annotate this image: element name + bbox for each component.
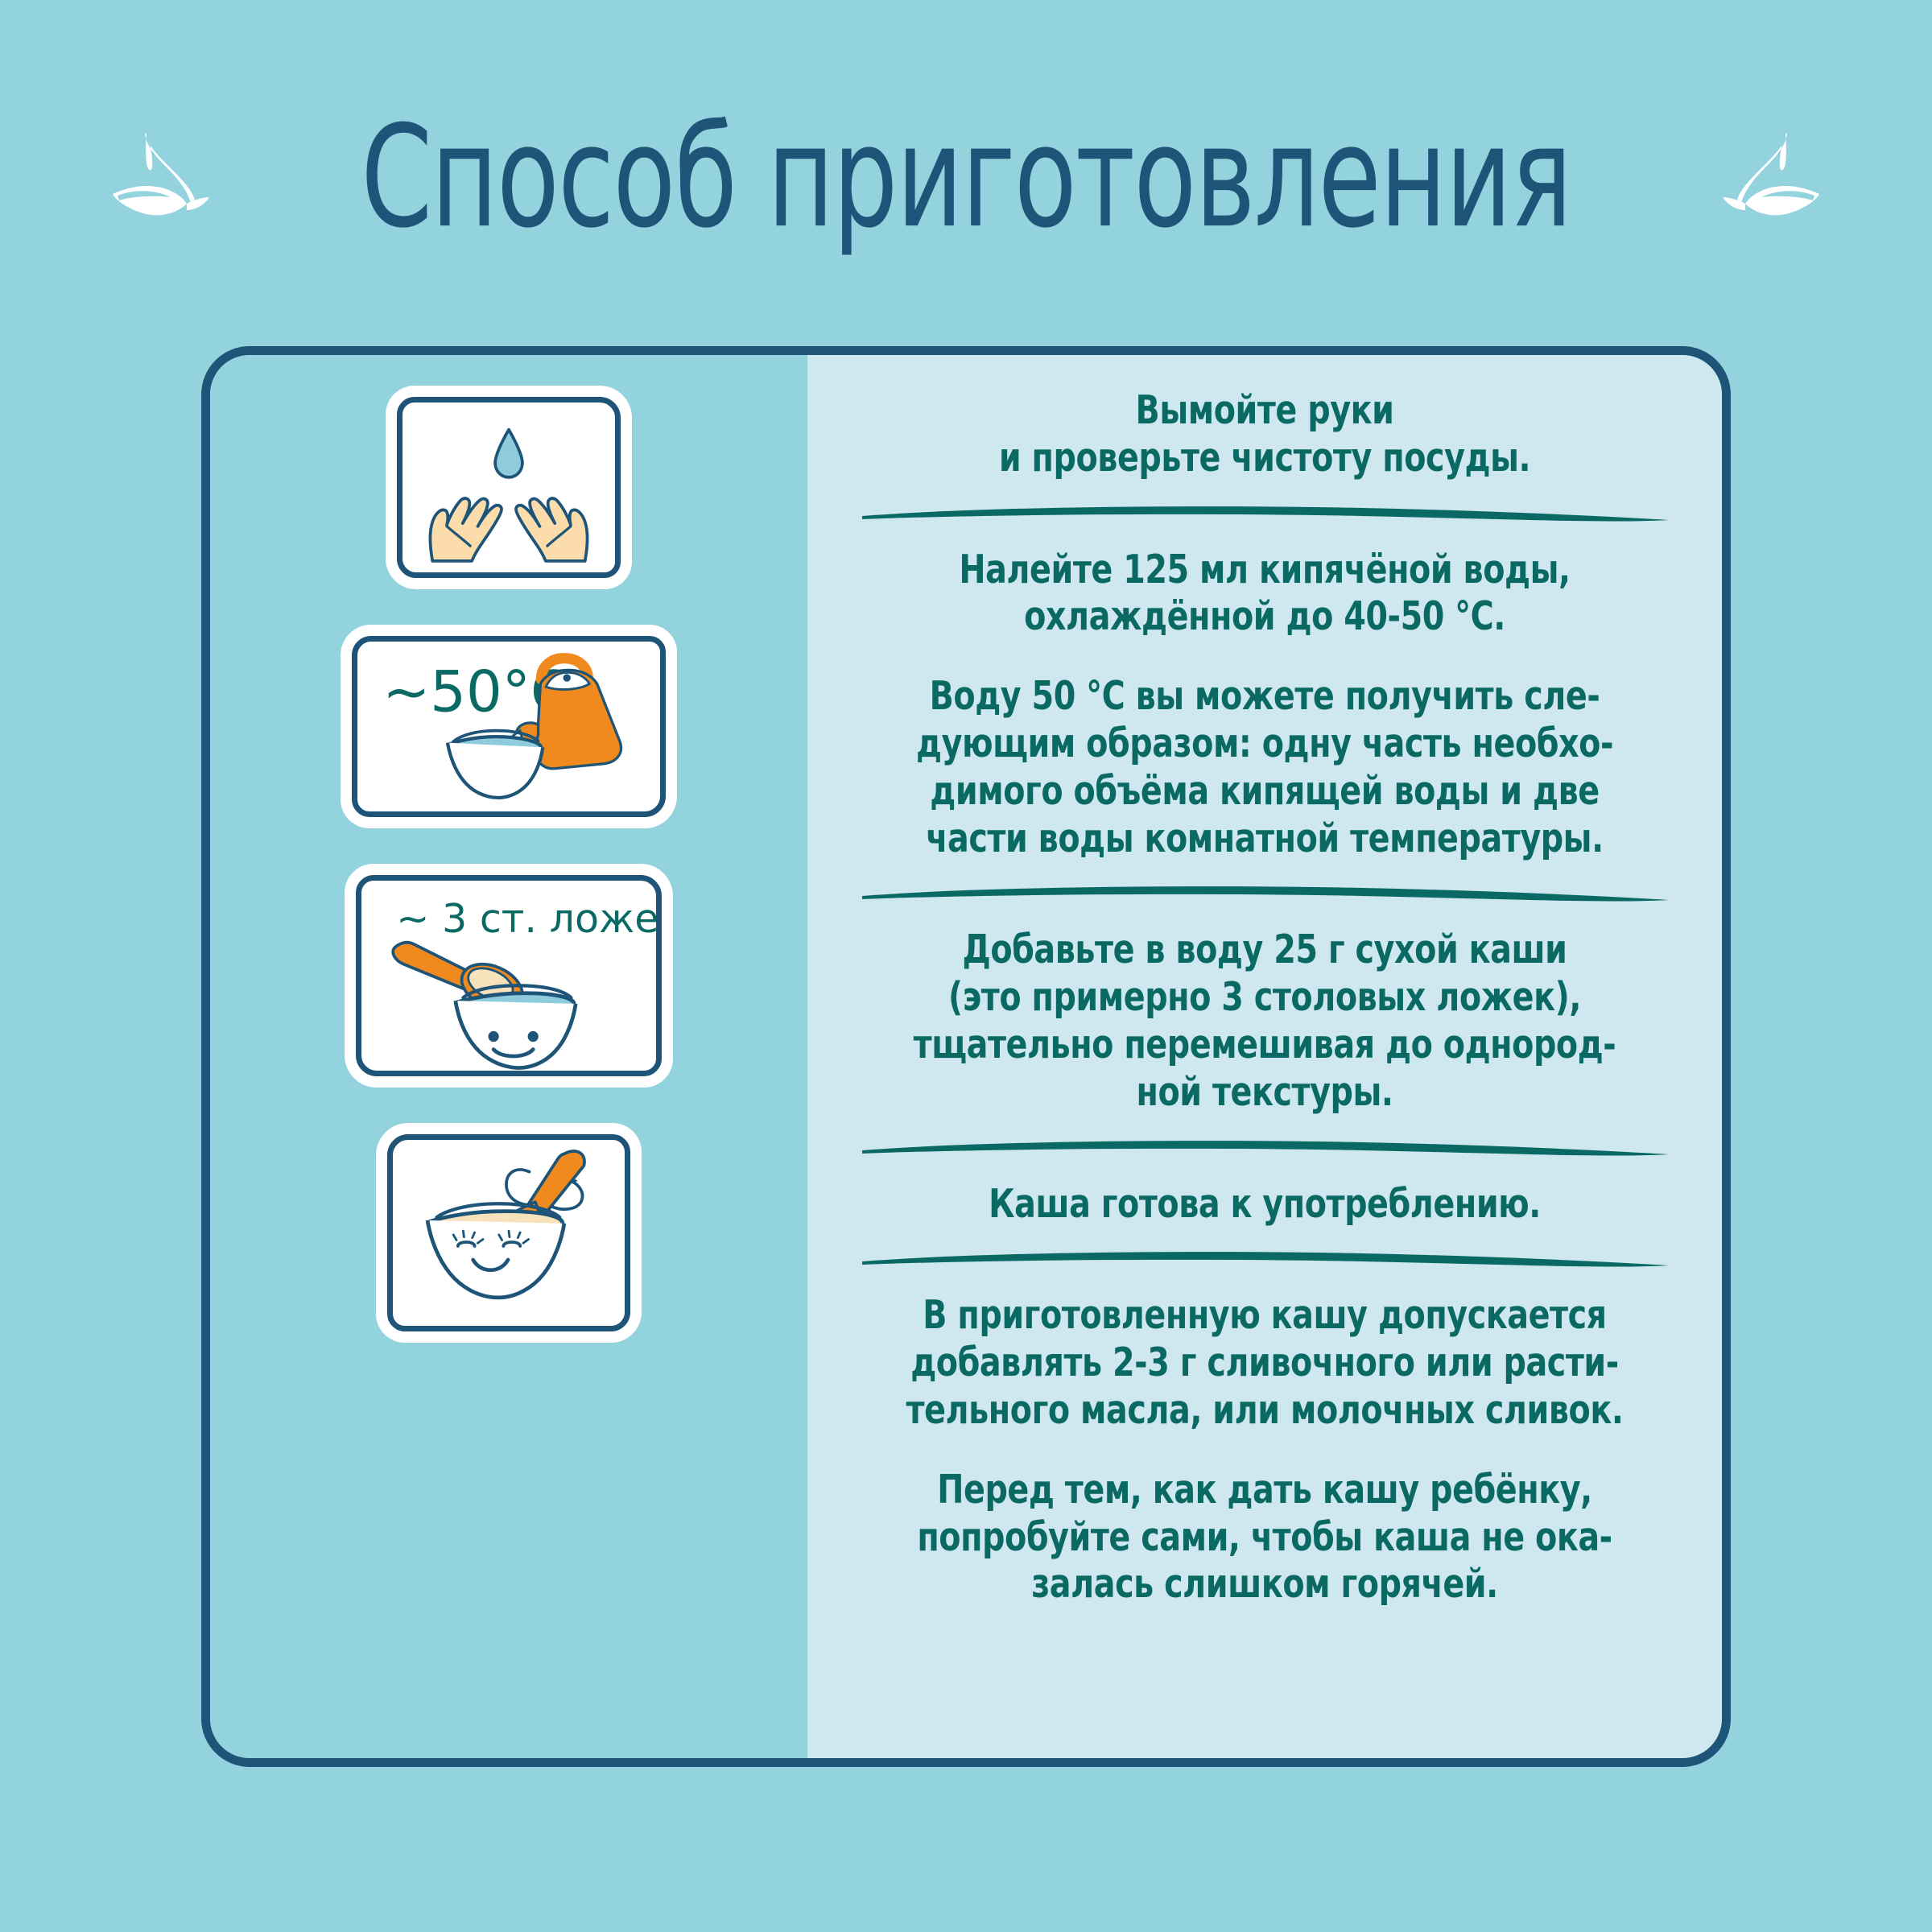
preparation-card: ~50°C ~ 3 [201, 346, 1731, 1767]
instruction-step-5: В приготовленную кашу допускается добавл… [898, 1292, 1632, 1434]
leaf-flourish-icon [1702, 117, 1823, 237]
hands-icon [430, 498, 587, 561]
instruction-step-2-note: Воду 50 °C вы можете получить сле- дующи… [898, 673, 1632, 862]
separator-rule [857, 1247, 1672, 1271]
separator-rule [857, 502, 1672, 526]
stirring-porridge-illustration [387, 1134, 630, 1331]
washing-hands-illustration [397, 397, 621, 578]
smiling-bowl-icon [456, 985, 576, 1067]
instruction-step-6: Перед тем, как дать кашу ребёнку, попроб… [898, 1467, 1632, 1608]
leaf-flourish-icon [109, 117, 230, 237]
spoon-count-caption: ~ 3 ст. ложек [396, 895, 656, 942]
separator-rule [857, 881, 1672, 906]
page-title: Способ приготовления [361, 107, 1571, 248]
instruction-step-4: Каша готова к употреблению. [898, 1181, 1632, 1228]
kettle-pouring-illustration: ~50°C [352, 636, 666, 817]
instruction-step-3: Добавьте в воду 25 г сухой каши (это при… [898, 927, 1632, 1116]
spoon-powder-illustration: ~ 3 ст. ложек [356, 875, 662, 1076]
bowl-icon [448, 731, 543, 798]
instruction-step-2: Налейте 125 мл кипячёной воды, охлаждённ… [898, 547, 1632, 642]
instruction-step-1: Вымойте руки и проверьте чистоту посуды. [898, 387, 1632, 482]
illustration-column: ~50°C ~ 3 [210, 355, 807, 1758]
water-drop-icon [495, 430, 522, 477]
separator-rule [857, 1136, 1672, 1160]
title-row: Способ приготовления [0, 97, 1932, 258]
instructions-column: Вымойте руки и проверьте чистоту посуды.… [807, 355, 1722, 1758]
smiling-bowl-icon [427, 1203, 564, 1298]
